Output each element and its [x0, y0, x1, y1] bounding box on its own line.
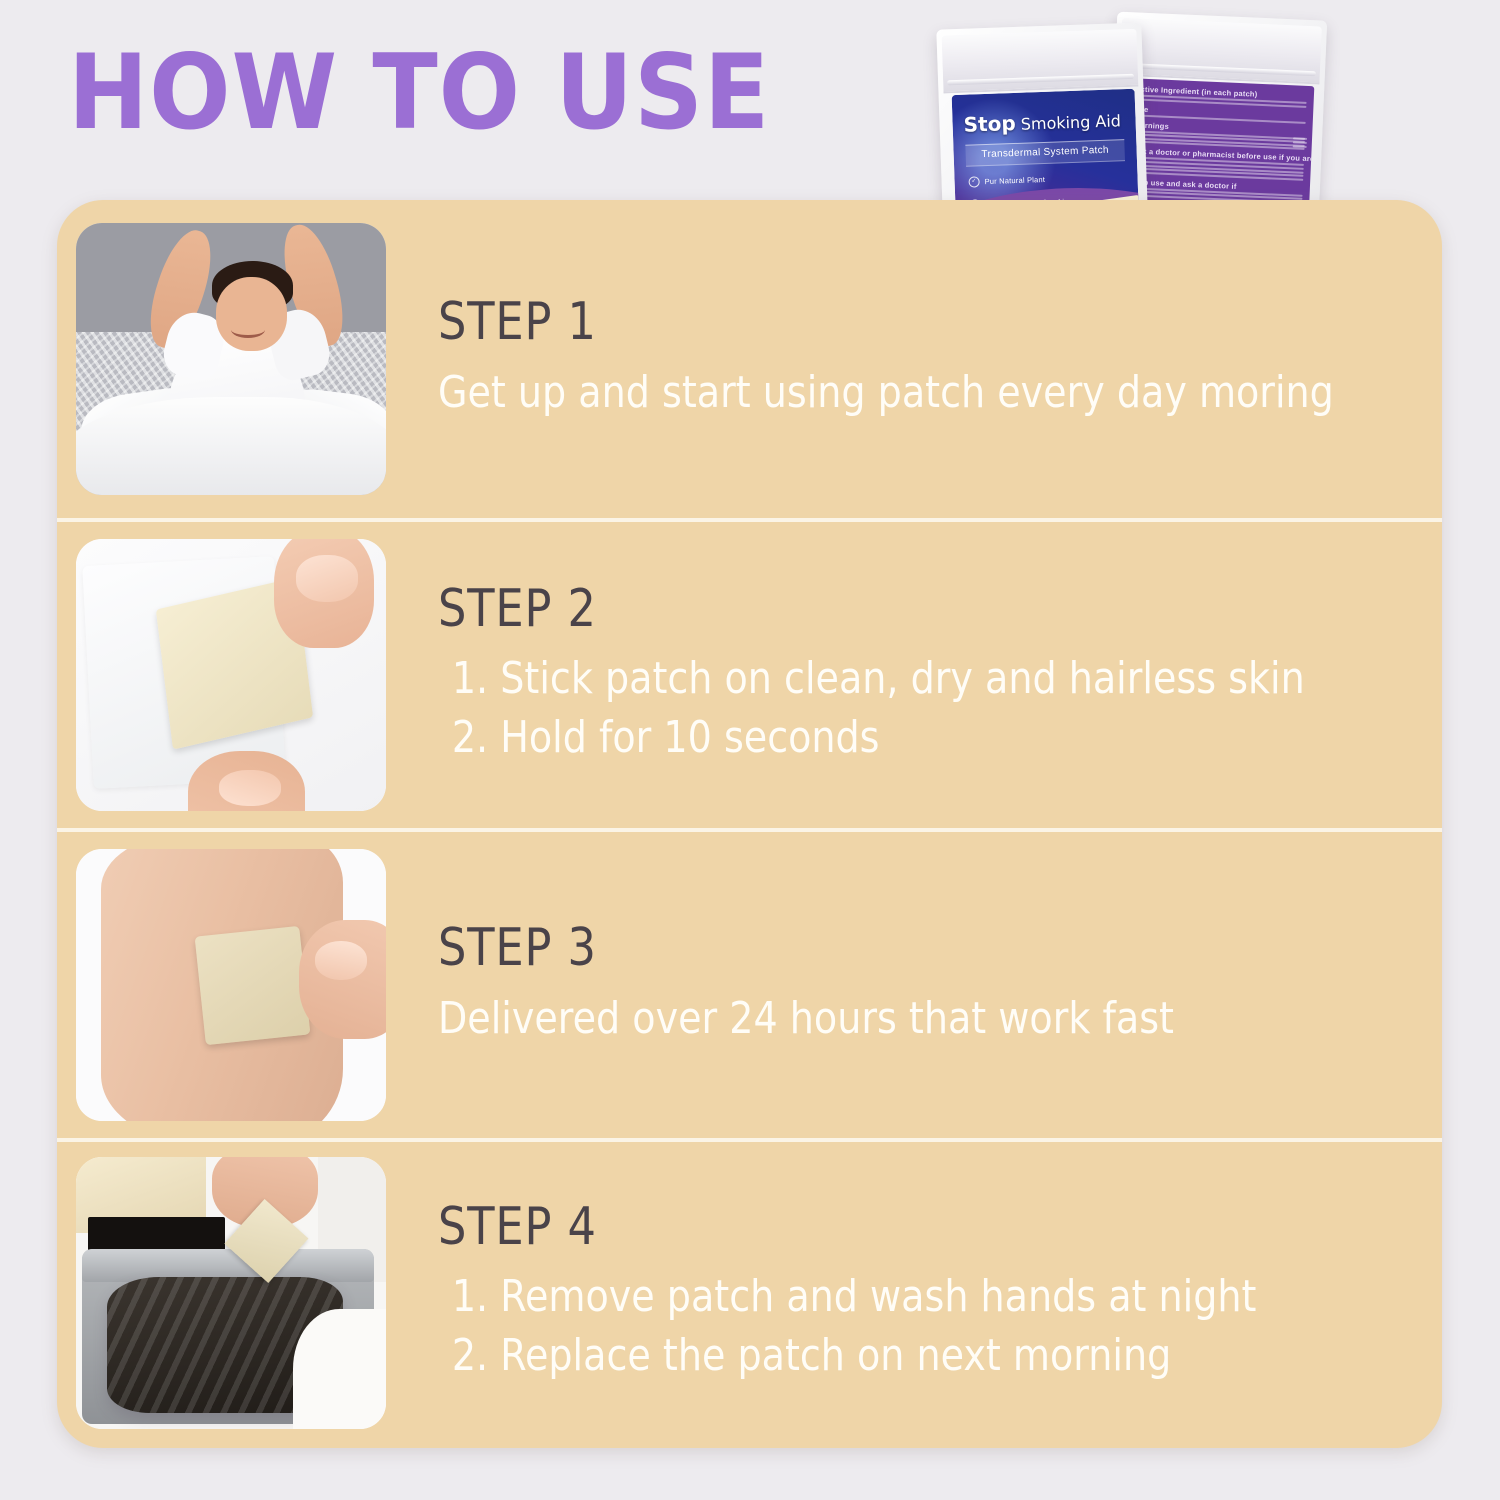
step-line: 1. Stick patch on clean, dry and hairles…: [438, 650, 1284, 709]
product-brand-bold: Stop: [963, 111, 1016, 137]
product-brand-rest: Smoking Aid: [1015, 111, 1121, 134]
step-row: STEP 2 1. Stick patch on clean, dry and …: [57, 518, 1442, 828]
zip-seal-back: [1120, 18, 1322, 85]
step-text-block: STEP 4 1. Remove patch and wash hands at…: [386, 1200, 1442, 1387]
step-row: STEP 1 Get up and start using patch ever…: [57, 200, 1442, 518]
step-line: 1. Remove patch and wash hands at night: [438, 1268, 1284, 1327]
zip-seal-front: [942, 29, 1139, 94]
step-text-block: STEP 2 1. Stick patch on clean, dry and …: [386, 582, 1442, 769]
step-heading: STEP 4: [438, 1200, 1279, 1255]
step-heading: STEP 3: [438, 921, 1279, 976]
hands-peeling-patch-photo: [76, 539, 386, 811]
check-icon: ✓: [968, 176, 979, 187]
man-waking-up-in-bed-photo: [76, 223, 386, 495]
step-text-block: STEP 1 Get up and start using patch ever…: [386, 295, 1442, 423]
step-row: STEP 3 Delivered over 24 hours that work…: [57, 828, 1442, 1138]
step-heading: STEP 1: [438, 295, 1279, 350]
step-line: Get up and start using patch every day m…: [438, 364, 1284, 423]
discarding-patch-in-bin-photo: [76, 1157, 386, 1429]
product-feature-0: ✓ Pur Natural Plant: [968, 171, 1131, 188]
how-to-use-steps-card: STEP 1 Get up and start using patch ever…: [57, 200, 1442, 1448]
step-heading: STEP 2: [438, 582, 1279, 637]
step-line: 2. Hold for 10 seconds: [438, 709, 1284, 768]
back-label-side-notes: [1293, 137, 1308, 150]
product-feature-0-label: Pur Natural Plant: [984, 175, 1045, 186]
patch-applied-to-skin-photo: [76, 849, 386, 1121]
step-row: STEP 4 1. Remove patch and wash hands at…: [57, 1138, 1442, 1444]
page-title: HOW TO USE: [68, 42, 770, 145]
product-subtitle: Transdermal System Patch: [965, 139, 1125, 167]
step-line: 2. Replace the patch on next morning: [438, 1327, 1284, 1386]
product-brand-name: Stop Smoking Aid: [963, 109, 1121, 134]
step-line: Delivered over 24 hours that work fast: [438, 990, 1284, 1049]
step-text-block: STEP 3 Delivered over 24 hours that work…: [386, 921, 1442, 1049]
